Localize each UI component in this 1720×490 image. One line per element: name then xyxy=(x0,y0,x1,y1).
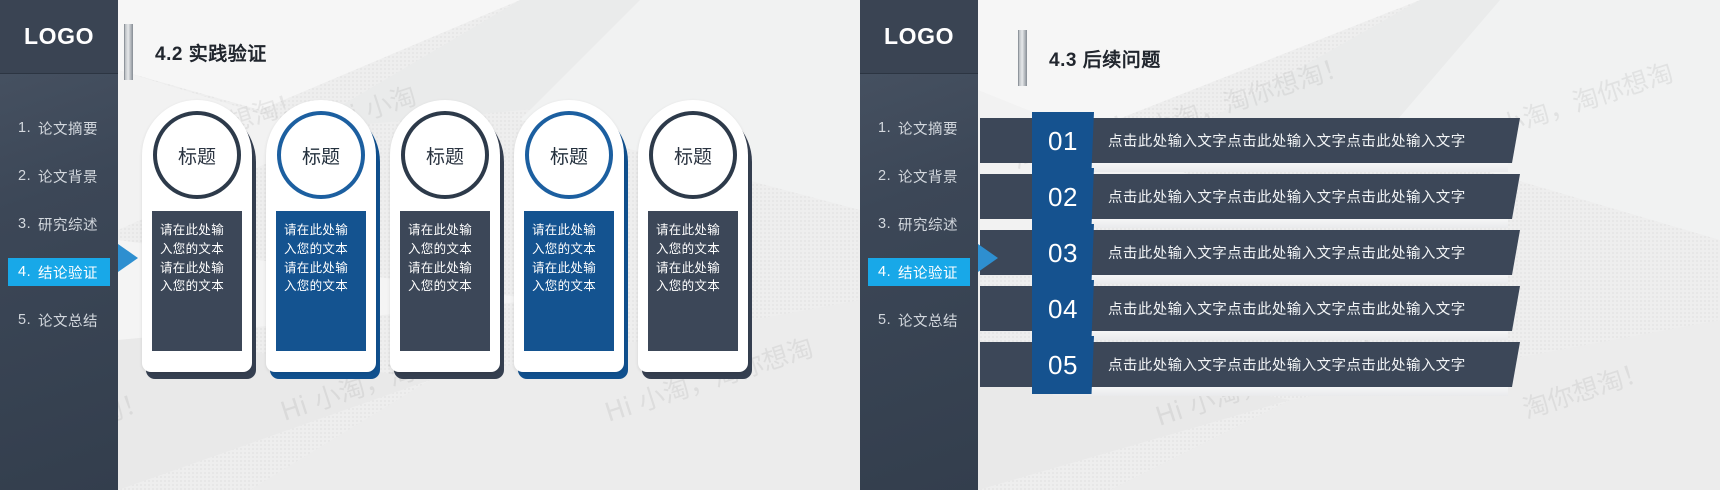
screenshot-root: 淘你想淘！ Hi 小淘 Hi 小淘，淘你想淘！ Hi 小淘，淘你想淘 淘你想淘！… xyxy=(0,0,1720,490)
logo-area: LOGO xyxy=(860,0,978,74)
row-4-text: 点击此处输入文字点击此处输入文字点击此处输入文字 xyxy=(1108,286,1466,331)
sidebar-item-3-label: 研究综述 xyxy=(38,214,98,235)
sidebar-nav: 1. 论文摘要 2. 论文背景 3. 研究综述 4. 结论验证 5. 论文总 xyxy=(0,74,118,334)
sidebar-item-1[interactable]: 1. 论文摘要 xyxy=(8,114,110,142)
row-5-number: 05 xyxy=(1032,336,1094,394)
sidebar-item-4-label: 结论验证 xyxy=(38,262,98,283)
sidebar-item-3[interactable]: 3. 研究综述 xyxy=(868,210,970,238)
slide-right-title-group: 4.3 后续问题 xyxy=(1018,30,1161,86)
numbered-row-4[interactable]: 04 点击此处输入文字点击此处输入文字点击此处输入文字 xyxy=(980,286,1520,331)
card-1-circle: 标题 xyxy=(153,111,241,199)
sidebar-item-2-label: 论文背景 xyxy=(38,166,98,187)
logo-text: LOGO xyxy=(884,23,954,50)
card-3-text: 请在此处输入您的文本请在此处输入您的文本 xyxy=(400,211,490,351)
card-3-circle: 标题 xyxy=(401,111,489,199)
card-1-body: 标题 请在此处输入您的文本请在此处输入您的文本 xyxy=(142,100,252,372)
sidebar-nav: 1. 论文摘要 2. 论文背景 3. 研究综述 4. 结论验证 5. 论文总 xyxy=(860,74,978,334)
sidebar-item-5[interactable]: 5. 论文总结 xyxy=(8,306,110,334)
sidebar-item-1[interactable]: 1. 论文摘要 xyxy=(868,114,970,142)
row-2-text: 点击此处输入文字点击此处输入文字点击此处输入文字 xyxy=(1108,174,1466,219)
card-4-body: 标题 请在此处输入您的文本请在此处输入您的文本 xyxy=(514,100,624,372)
slide-right: Hi 小淘，淘你想淘！ Hi 小淘，淘你想淘 淘你想淘！ Hi 小淘，淘你想淘！… xyxy=(860,0,1720,490)
card-2-circle-label: 标题 xyxy=(302,142,340,169)
sidebar-item-2-label: 论文背景 xyxy=(898,166,958,187)
card-4-circle-label: 标题 xyxy=(550,142,588,169)
slide-left: 淘你想淘！ Hi 小淘 Hi 小淘，淘你想淘！ Hi 小淘，淘你想淘 淘你想淘！… xyxy=(0,0,860,490)
sidebar-item-2[interactable]: 2. 论文背景 xyxy=(868,162,970,190)
sidebar-item-1-number: 1. xyxy=(18,120,38,136)
sidebar-item-4-number: 4. xyxy=(18,264,38,280)
sidebar-item-1-number: 1. xyxy=(878,120,898,136)
row-2-number: 02 xyxy=(1032,168,1094,226)
slide-left-title: 4.2 实践验证 xyxy=(155,39,267,66)
card-list: 标题 请在此处输入您的文本请在此处输入您的文本 标题 请在此处输入您的文本请在此… xyxy=(142,100,748,372)
sidebar-item-4[interactable]: 4. 结论验证 xyxy=(868,258,970,286)
card-1-circle-label: 标题 xyxy=(178,142,216,169)
card-5-text: 请在此处输入您的文本请在此处输入您的文本 xyxy=(648,211,738,351)
logo-area: LOGO xyxy=(0,0,118,74)
row-3-text: 点击此处输入文字点击此处输入文字点击此处输入文字 xyxy=(1108,230,1466,275)
sidebar-item-3-label: 研究综述 xyxy=(898,214,958,235)
card-1[interactable]: 标题 请在此处输入您的文本请在此处输入您的文本 xyxy=(142,100,252,372)
card-2-text: 请在此处输入您的文本请在此处输入您的文本 xyxy=(276,211,366,351)
card-4[interactable]: 标题 请在此处输入您的文本请在此处输入您的文本 xyxy=(514,100,624,372)
slide-left-title-group: 4.2 实践验证 xyxy=(124,24,267,80)
logo-text: LOGO xyxy=(24,23,94,50)
row-5-text: 点击此处输入文字点击此处输入文字点击此处输入文字 xyxy=(1108,342,1466,387)
card-1-text: 请在此处输入您的文本请在此处输入您的文本 xyxy=(152,211,242,351)
numbered-row-5[interactable]: 05 点击此处输入文字点击此处输入文字点击此处输入文字 xyxy=(980,342,1520,387)
sidebar-item-2-number: 2. xyxy=(878,168,898,184)
sidebar-item-5-label: 论文总结 xyxy=(898,310,958,331)
sidebar-item-2-number: 2. xyxy=(18,168,38,184)
card-2-circle: 标题 xyxy=(277,111,365,199)
sidebar-item-3-number: 3. xyxy=(878,216,898,232)
card-5-body: 标题 请在此处输入您的文本请在此处输入您的文本 xyxy=(638,100,748,372)
sidebar-item-2[interactable]: 2. 论文背景 xyxy=(8,162,110,190)
row-1-number: 01 xyxy=(1032,112,1094,170)
title-accent-bar xyxy=(124,24,133,80)
card-5-circle-label: 标题 xyxy=(674,142,712,169)
card-5-circle: 标题 xyxy=(649,111,737,199)
numbered-row-3[interactable]: 03 点击此处输入文字点击此处输入文字点击此处输入文字 xyxy=(980,230,1520,275)
card-3-body: 标题 请在此处输入您的文本请在此处输入您的文本 xyxy=(390,100,500,372)
card-5[interactable]: 标题 请在此处输入您的文本请在此处输入您的文本 xyxy=(638,100,748,372)
sidebar-item-3-number: 3. xyxy=(18,216,38,232)
row-1-text: 点击此处输入文字点击此处输入文字点击此处输入文字 xyxy=(1108,118,1466,163)
sidebar-item-4-number: 4. xyxy=(878,264,898,280)
sidebar-item-5-number: 5. xyxy=(878,312,898,328)
sidebar-right: LOGO 1. 论文摘要 2. 论文背景 3. 研究综述 4. 结论验证 xyxy=(860,0,978,490)
sidebar-item-4-label: 结论验证 xyxy=(898,262,958,283)
sidebar-item-5-number: 5. xyxy=(18,312,38,328)
sidebar-item-4[interactable]: 4. 结论验证 xyxy=(8,258,110,286)
title-accent-bar xyxy=(1018,30,1027,86)
card-2[interactable]: 标题 请在此处输入您的文本请在此处输入您的文本 xyxy=(266,100,376,372)
numbered-row-list: 01 点击此处输入文字点击此处输入文字点击此处输入文字 02 点击此处输入文字点… xyxy=(980,118,1520,398)
card-3[interactable]: 标题 请在此处输入您的文本请在此处输入您的文本 xyxy=(390,100,500,372)
sidebar-item-5-label: 论文总结 xyxy=(38,310,98,331)
card-4-circle: 标题 xyxy=(525,111,613,199)
card-3-circle-label: 标题 xyxy=(426,142,464,169)
sidebar-item-3[interactable]: 3. 研究综述 xyxy=(8,210,110,238)
row-4-number: 04 xyxy=(1032,280,1094,338)
sidebar-item-5[interactable]: 5. 论文总结 xyxy=(868,306,970,334)
card-2-body: 标题 请在此处输入您的文本请在此处输入您的文本 xyxy=(266,100,376,372)
numbered-row-2[interactable]: 02 点击此处输入文字点击此处输入文字点击此处输入文字 xyxy=(980,174,1520,219)
sidebar-left: LOGO 1. 论文摘要 2. 论文背景 3. 研究综述 4. 结论验证 xyxy=(0,0,118,490)
sidebar-item-1-label: 论文摘要 xyxy=(898,118,958,139)
slide-right-title: 4.3 后续问题 xyxy=(1049,45,1161,72)
numbered-row-1[interactable]: 01 点击此处输入文字点击此处输入文字点击此处输入文字 xyxy=(980,118,1520,163)
card-4-text: 请在此处输入您的文本请在此处输入您的文本 xyxy=(524,211,614,351)
sidebar-item-1-label: 论文摘要 xyxy=(38,118,98,139)
row-3-number: 03 xyxy=(1032,224,1094,282)
